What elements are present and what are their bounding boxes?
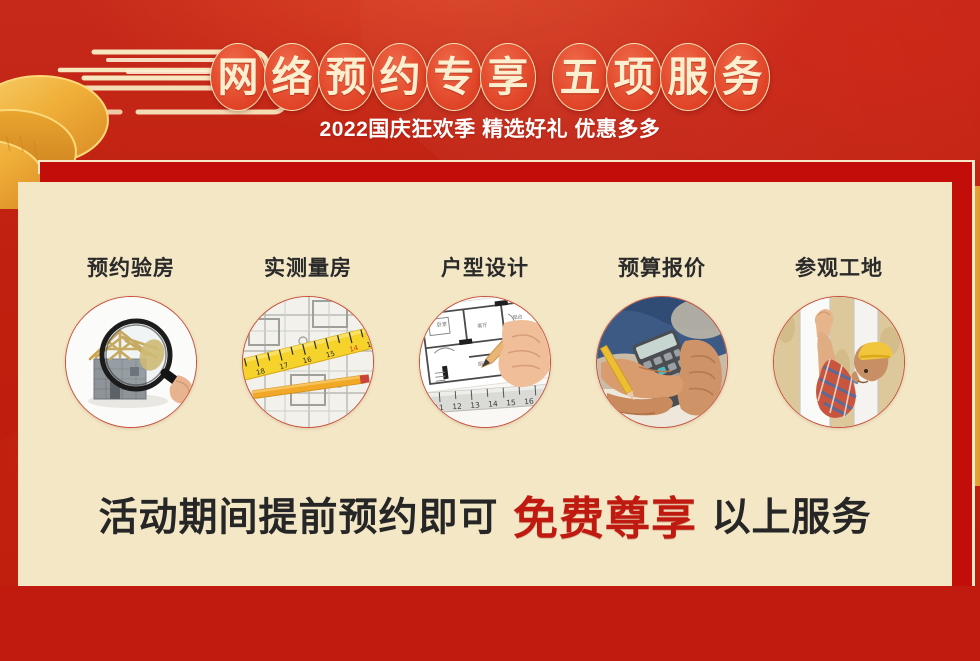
- title-char-7: 五: [552, 43, 608, 111]
- title-char-1: 络: [264, 43, 320, 111]
- tagline-suffix: 以上服务: [711, 497, 871, 540]
- svg-text:14: 14: [488, 399, 498, 409]
- frame-right-band: [952, 162, 972, 586]
- svg-text:16: 16: [524, 397, 534, 407]
- worker-drywall-icon: [773, 296, 905, 428]
- service-label-4: 参观工地: [795, 252, 883, 282]
- promo-banner: 网 络 预 约 专 享 五 项 服 务 2022国庆狂欢季 精选好礼 优惠多多: [0, 0, 980, 661]
- service-item-4[interactable]: 参观工地: [762, 252, 917, 428]
- title-char-4: 专: [426, 43, 482, 111]
- service-item-1[interactable]: 实测量房: [231, 252, 386, 428]
- tape-measure-blueprint-icon: 1817 1615 1413: [242, 296, 374, 428]
- service-label-1: 实测量房: [264, 252, 352, 282]
- title-char-2: 预: [318, 43, 374, 111]
- title-char-9: 服: [660, 43, 716, 111]
- svg-text:12: 12: [452, 402, 462, 412]
- svg-text:卧室: 卧室: [437, 320, 448, 328]
- frame-right-outline: [972, 160, 975, 588]
- banner-title: 网 络 预 约 专 享 五 项 服 务: [0, 42, 980, 112]
- svg-text:13: 13: [470, 400, 480, 410]
- services-row: 预约验房: [18, 182, 952, 472]
- tagline: 活动期间提前预约即可 免费尊享 以上服务: [18, 482, 952, 547]
- service-label-2: 户型设计: [441, 252, 529, 282]
- banner-subtitle: 2022国庆狂欢季 精选好礼 优惠多多: [0, 113, 980, 143]
- service-label-3: 预算报价: [618, 252, 706, 282]
- title-char-8: 项: [606, 43, 662, 111]
- tagline-highlight: 免费尊享: [513, 493, 697, 544]
- hands-calculator-icon: [596, 296, 728, 428]
- hand-pencil-floorplan-icon: 卧室客厅 阳台厨房 0: [419, 296, 551, 428]
- service-item-3[interactable]: 预算报价: [585, 252, 740, 428]
- title-char-10: 务: [714, 43, 770, 111]
- footer-red-band: [0, 586, 980, 661]
- service-item-2[interactable]: 户型设计: [408, 252, 563, 428]
- title-space: [534, 43, 554, 111]
- title-char-3: 约: [372, 43, 428, 111]
- magnifier-house-icon: [65, 296, 197, 428]
- title-char-5: 享: [480, 43, 536, 111]
- svg-text:11: 11: [434, 403, 444, 413]
- svg-text:13: 13: [366, 339, 373, 349]
- service-item-0[interactable]: 预约验房: [54, 252, 209, 428]
- svg-text:15: 15: [506, 398, 516, 408]
- svg-text:0: 0: [420, 404, 426, 413]
- svg-text:客厅: 客厅: [477, 322, 488, 330]
- tagline-prefix: 活动期间提前预约即可: [99, 497, 499, 540]
- svg-text:17: 17: [542, 395, 550, 405]
- title-char-0: 网: [210, 43, 266, 111]
- service-label-0: 预约验房: [87, 252, 175, 282]
